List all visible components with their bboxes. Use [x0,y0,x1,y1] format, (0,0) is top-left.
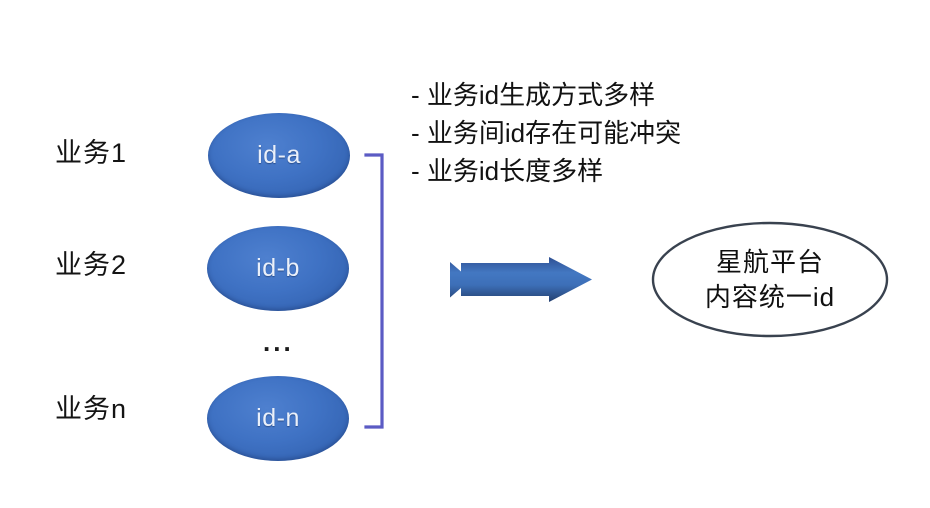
id-node-a-label: id-a [257,143,301,168]
id-node-b: id-b [207,226,349,311]
diagram-canvas: 业务1 业务2 业务n id-a id-b id-n ... - 业务id生成方… [0,0,930,508]
id-node-b-label: id-b [256,256,300,281]
group-bracket-icon [360,152,390,430]
transform-arrow-icon [447,255,595,305]
result-label-line-2: 内容统一id [650,280,890,315]
business-label-2: 业务2 [55,252,127,279]
id-node-a: id-a [208,113,350,198]
business-label-n: 业务n [55,396,127,423]
result-label-line-1: 星航平台 [650,245,890,280]
problem-list: - 业务id生成方式多样 - 业务间id存在可能冲突 - 业务id长度多样 [411,76,689,190]
problem-item-3: - 业务id长度多样 [411,152,689,190]
id-node-n: id-n [207,376,349,461]
id-node-n-label: id-n [256,406,300,431]
problem-item-1: - 业务id生成方式多样 [411,76,689,114]
problem-item-2: - 业务间id存在可能冲突 [411,114,689,152]
business-label-1: 业务1 [55,140,127,167]
result-node-label: 星航平台 内容统一id [650,245,890,315]
ellipsis-indicator: ... [263,329,294,355]
